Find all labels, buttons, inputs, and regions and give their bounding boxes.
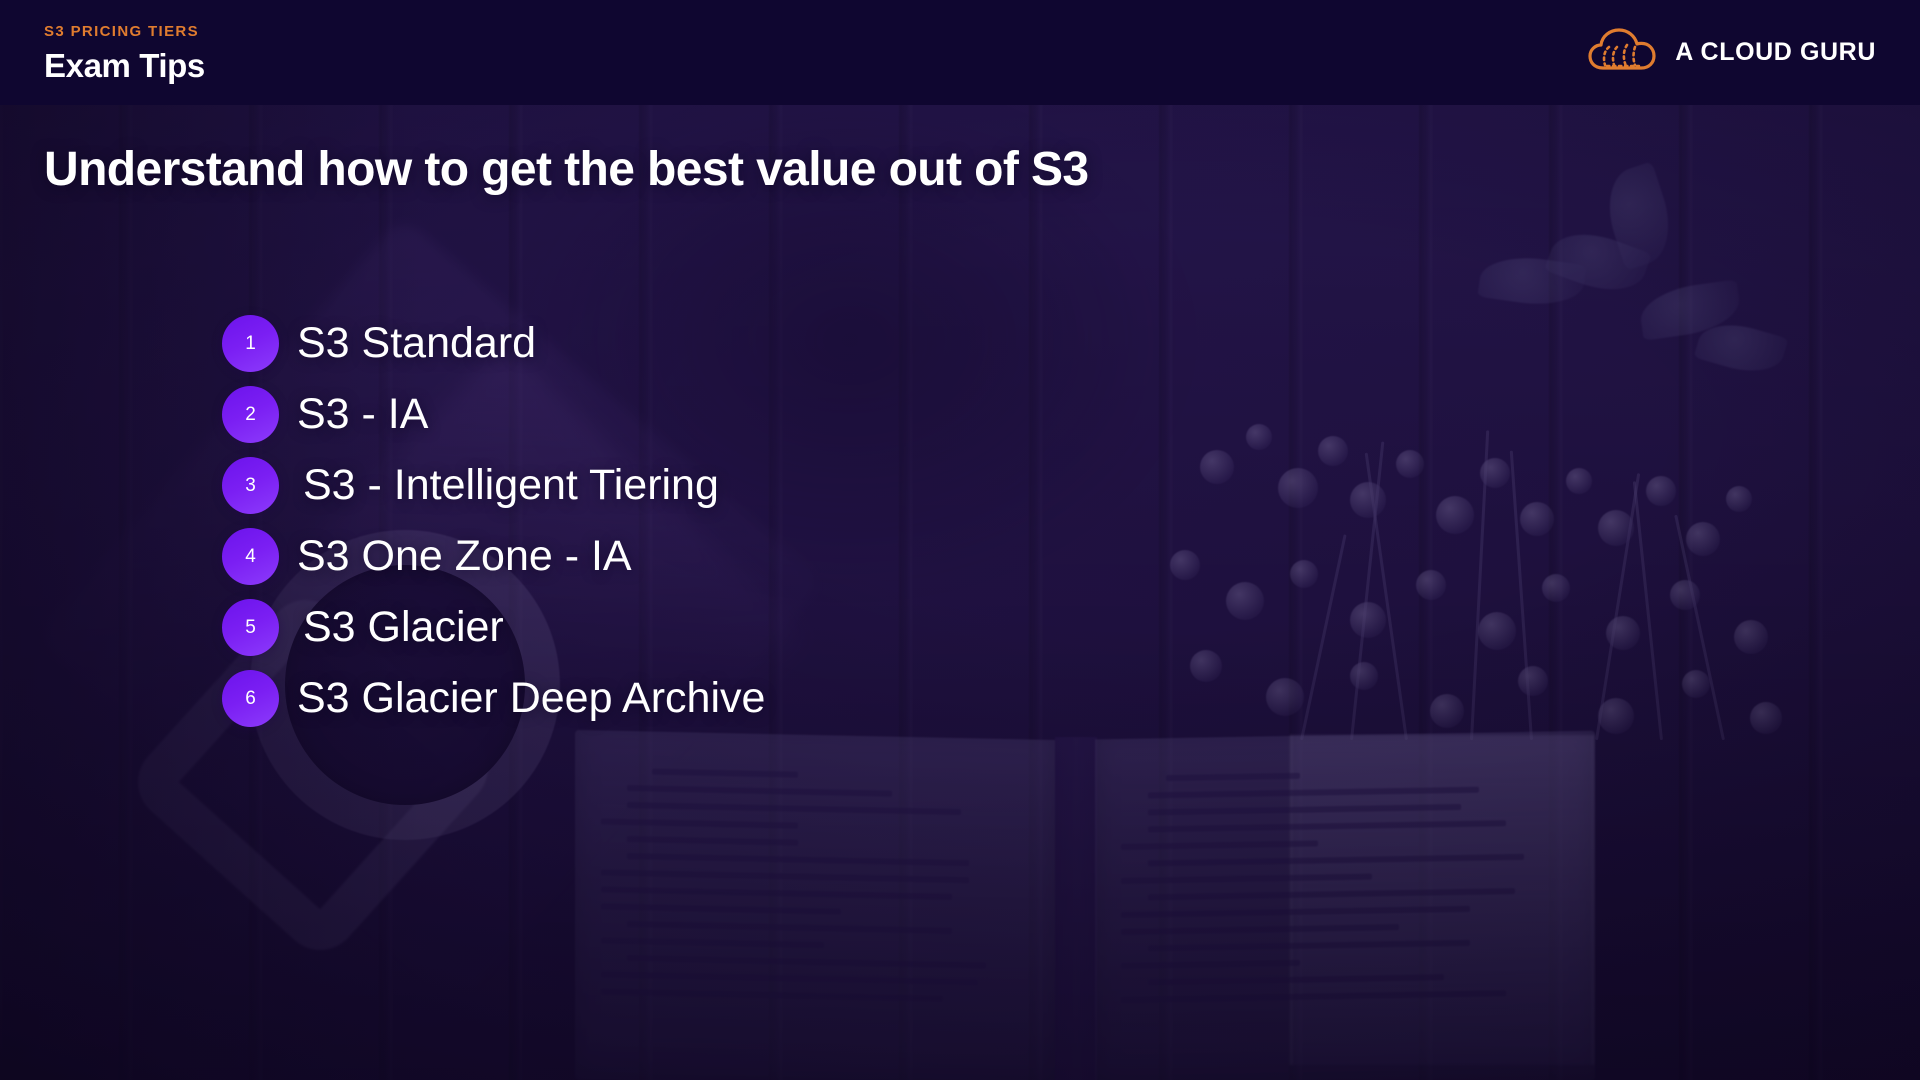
list-item-label: S3 Glacier Deep Archive [297,677,765,720]
list-item-number-badge: 4 [222,528,279,585]
brand-logo: A CLOUD GURU [1587,27,1876,78]
header-eyebrow: S3 PRICING TIERS [44,24,205,39]
slide-content: Understand how to get the best value out… [0,0,1920,1080]
list-item: 5 S3 Glacier [222,599,765,656]
cloud-icon [1587,27,1657,78]
slide: S3 PRICING TIERS Exam Tips A CLOUD GURU … [0,0,1920,1080]
page-title: Understand how to get the best value out… [44,144,1088,197]
pricing-tier-list: 1 S3 Standard 2 S3 - IA 3 S3 - Intellige… [222,315,765,741]
list-item-label: S3 - IA [297,393,428,436]
list-item-label: S3 Standard [297,322,536,365]
header-bar: S3 PRICING TIERS Exam Tips A CLOUD GURU [0,0,1920,105]
list-item: 3 S3 - Intelligent Tiering [222,457,765,514]
list-item: 4 S3 One Zone - IA [222,528,765,585]
list-item: 2 S3 - IA [222,386,765,443]
list-item-number-badge: 3 [222,457,279,514]
list-item-label: S3 Glacier [303,606,504,649]
header-title: Exam Tips [44,49,205,82]
list-item-label: S3 One Zone - IA [297,535,632,578]
list-item-number-badge: 1 [222,315,279,372]
list-item: 6 S3 Glacier Deep Archive [222,670,765,727]
list-item-label: S3 - Intelligent Tiering [303,464,719,507]
list-item-number-badge: 6 [222,670,279,727]
list-item: 1 S3 Standard [222,315,765,372]
list-item-number-badge: 2 [222,386,279,443]
header-title-group: S3 PRICING TIERS Exam Tips [44,24,205,82]
brand-name: A CLOUD GURU [1675,38,1876,67]
list-item-number-badge: 5 [222,599,279,656]
